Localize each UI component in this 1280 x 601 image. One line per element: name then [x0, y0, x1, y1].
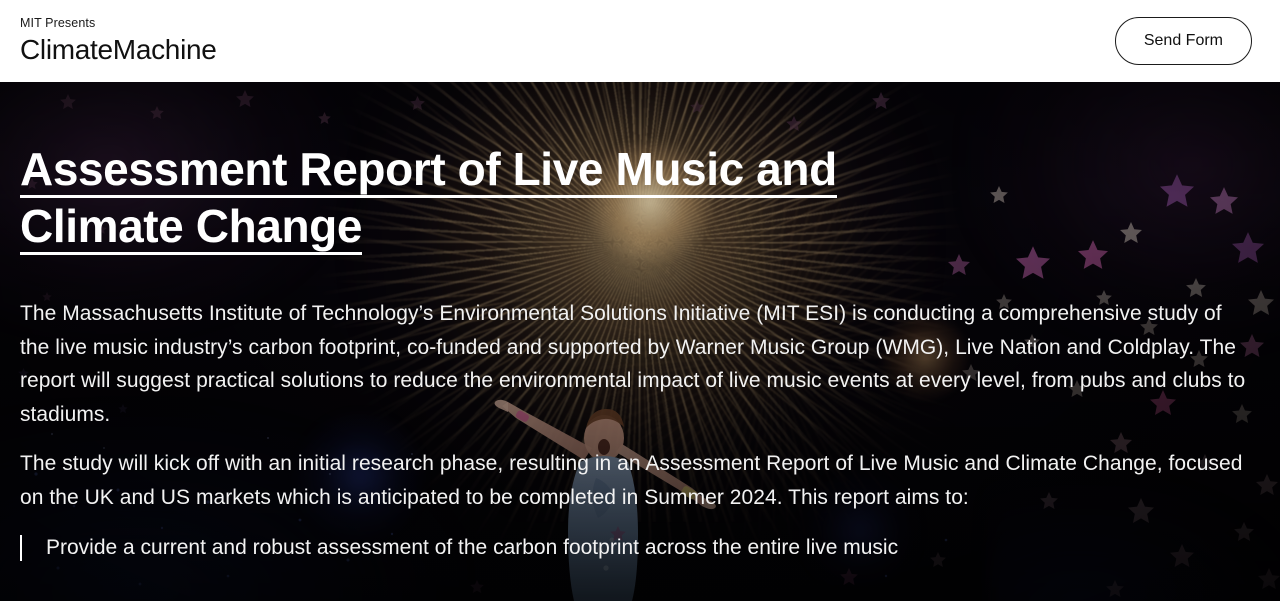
page-title: Assessment Report of Live Music andClima… [20, 141, 920, 255]
hero-content: Assessment Report of Live Music andClima… [0, 82, 1280, 564]
hero-section: Assessment Report of Live Music andClima… [0, 82, 1280, 601]
page-title-line-1: Assessment Report of Live Music and [20, 143, 837, 198]
send-form-button[interactable]: Send Form [1115, 17, 1252, 65]
page-title-line-2: Climate Change [20, 200, 362, 255]
site-header: MIT Presents ClimateMachine Send Form [0, 0, 1280, 82]
brand-eyebrow: MIT Presents [20, 16, 217, 31]
hero-aims-list: Provide a current and robust assessment … [20, 531, 1260, 565]
brand-title: ClimateMachine [20, 33, 217, 66]
hero-paragraph-1: The Massachusetts Institute of Technolog… [20, 297, 1252, 431]
list-item: Provide a current and robust assessment … [20, 531, 1252, 565]
brand-block[interactable]: MIT Presents ClimateMachine [20, 16, 217, 66]
hero-paragraph-2: The study will kick off with an initial … [20, 447, 1252, 514]
